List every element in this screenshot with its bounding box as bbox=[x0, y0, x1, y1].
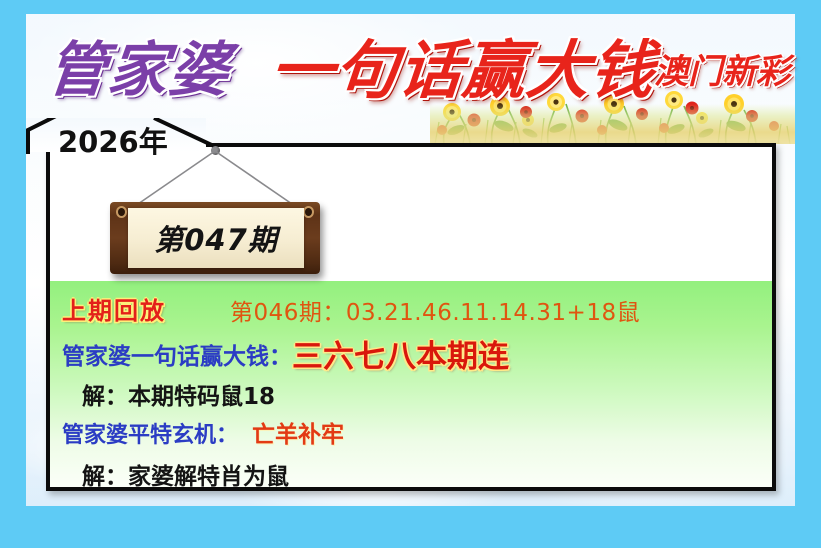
board-hole-left bbox=[118, 208, 125, 216]
recap-row-xuanji: 管家婆平特玄机：亡羊补牢 bbox=[62, 415, 344, 449]
header-title-row: 管家婆 一句话赢大钱 澳门新彩 bbox=[26, 16, 795, 116]
rope-lines bbox=[100, 146, 330, 208]
recap-row-explain-1: 解：本期特码鼠18 bbox=[82, 377, 275, 411]
recap-row-xuanji-value: 亡羊补牢 bbox=[252, 422, 344, 448]
recap-row-slogan-label: 管家婆一句话赢大钱： bbox=[62, 344, 292, 370]
recap-title: 上期回放 bbox=[62, 291, 166, 326]
hanging-issue-sign: 第047期 bbox=[100, 146, 330, 266]
poster-root: 管家婆 一句话赢大钱 澳门新彩 2026年 第047期 一句话赢大钱： 一六横扫… bbox=[0, 0, 821, 548]
recap-row-slogan: 管家婆一句话赢大钱：三六七八本期连 bbox=[62, 331, 509, 376]
brand-title: 管家婆 bbox=[44, 22, 236, 107]
issue-number: 第047期 bbox=[128, 208, 304, 268]
board-hole-right bbox=[305, 208, 312, 216]
recap-result: 第046期：03.21.46.11.14.31+18鼠 bbox=[230, 293, 640, 327]
wooden-board: 第047期 bbox=[110, 202, 320, 274]
region-title: 澳门新彩 bbox=[654, 44, 790, 93]
recap-row-explain-2: 解：家婆解特肖为鼠 bbox=[82, 457, 289, 491]
recap-row-slogan-value: 三六七八本期连 bbox=[292, 339, 509, 375]
recap-panel: 上期回放 第046期：03.21.46.11.14.31+18鼠 管家婆一句话赢… bbox=[50, 281, 772, 487]
issue-paper: 第047期 bbox=[128, 208, 304, 268]
recap-row-xuanji-label: 管家婆平特玄机： bbox=[62, 423, 238, 448]
slogan-title: 一句话赢大钱 bbox=[267, 20, 659, 111]
